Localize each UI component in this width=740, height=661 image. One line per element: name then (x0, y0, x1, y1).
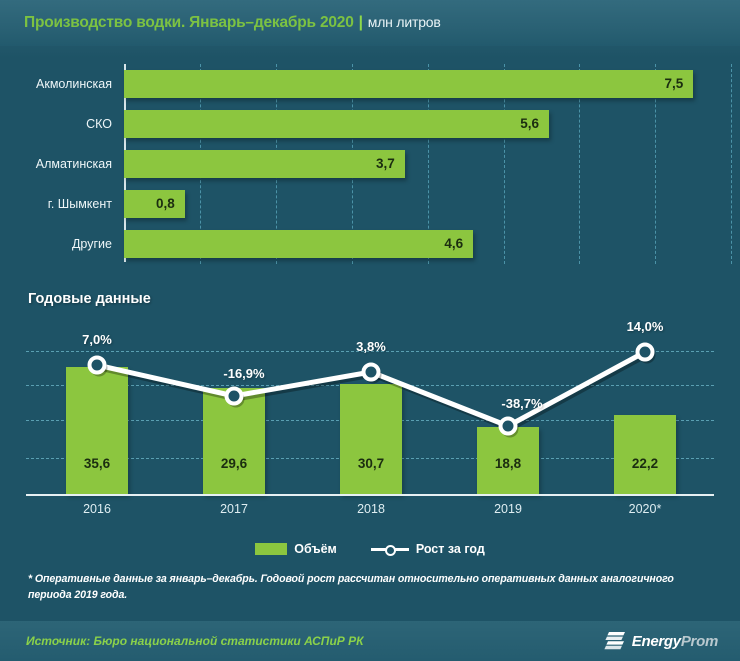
logo-energy-text: Energy (632, 633, 681, 650)
x-axis-tick-label: 2016 (57, 502, 137, 516)
x-axis-tick-label: 2020* (605, 502, 685, 516)
legend-label-growth: Рост за год (416, 542, 485, 556)
growth-percent-label: -38,7% (472, 396, 572, 411)
footer-bar: Источник: Бюро национальной статистики А… (0, 621, 740, 661)
page-subtitle: млн литров (368, 14, 441, 30)
logo-prom-text: Prom (681, 633, 718, 650)
bar-value-label: 4,6 (124, 230, 463, 258)
header-bar: Производство водки. Январь–декабрь 2020|… (0, 0, 740, 46)
growth-line-series (0, 330, 740, 505)
line-marker-icon (371, 543, 409, 555)
bar-value-label: 5,6 (124, 110, 539, 138)
growth-marker[interactable] (364, 365, 379, 380)
bar-chart-row[interactable]: г. Шымкент0,8 (0, 184, 740, 224)
chart-legend: Объём Рост за год (0, 538, 740, 560)
page-title: Производство водки. Январь–декабрь 2020|… (0, 14, 441, 32)
bar-chart-rows: Акмолинская7,5СКО5,6Алматинская3,7г. Шым… (0, 64, 740, 264)
growth-percent-label: -16,9% (194, 366, 294, 381)
legend-label-volume: Объём (294, 542, 337, 556)
bar-value-label: 7,5 (124, 70, 683, 98)
x-axis-tick-label: 2017 (194, 502, 274, 516)
logo-wordmark: EnergyProm (632, 633, 718, 650)
bar-category-label: Алматинская (0, 144, 112, 184)
legend-item-volume[interactable]: Объём (255, 542, 337, 556)
bar-category-label: Акмолинская (0, 64, 112, 104)
growth-marker[interactable] (90, 358, 105, 373)
growth-marker[interactable] (227, 389, 242, 404)
growth-percent-label: 3,8% (321, 339, 421, 354)
energyprom-mark-icon (604, 631, 626, 651)
annual-section-title: Годовые данные (28, 291, 151, 307)
bar-category-label: г. Шымкент (0, 184, 112, 224)
bar-chart-row[interactable]: Другие4,6 (0, 224, 740, 264)
annual-combo-chart: 35,629,630,718,822,2 7,0%-16,9%3,8%-38,7… (0, 330, 740, 525)
growth-marker[interactable] (501, 419, 516, 434)
bar-chart-row[interactable]: Акмолинская7,5 (0, 64, 740, 104)
source-attribution: Источник: Бюро национальной статистики А… (0, 634, 364, 648)
energyprom-logo[interactable]: EnergyProm (604, 631, 740, 651)
bar-category-label: Другие (0, 224, 112, 264)
bar-value-label: 3,7 (124, 150, 395, 178)
legend-item-growth[interactable]: Рост за год (371, 542, 485, 556)
regional-bar-chart: Акмолинская7,5СКО5,6Алматинская3,7г. Шым… (0, 60, 740, 275)
growth-percent-label: 14,0% (595, 319, 695, 334)
bar-chart-row[interactable]: СКО5,6 (0, 104, 740, 144)
title-separator: | (359, 14, 363, 31)
page-title-main: Производство водки. Январь–декабрь 2020 (24, 14, 354, 31)
x-axis-tick-label: 2018 (331, 502, 411, 516)
footnote-text: * Оперативные данные за январь–декабрь. … (28, 571, 718, 604)
bar-value-label: 0,8 (124, 190, 175, 218)
green-swatch-icon (255, 543, 287, 555)
infographic-root: Производство водки. Январь–декабрь 2020|… (0, 0, 740, 661)
bar-category-label: СКО (0, 104, 112, 144)
bar-chart-row[interactable]: Алматинская3,7 (0, 144, 740, 184)
x-axis-tick-label: 2019 (468, 502, 548, 516)
growth-marker[interactable] (638, 345, 653, 360)
growth-percent-label: 7,0% (47, 332, 147, 347)
